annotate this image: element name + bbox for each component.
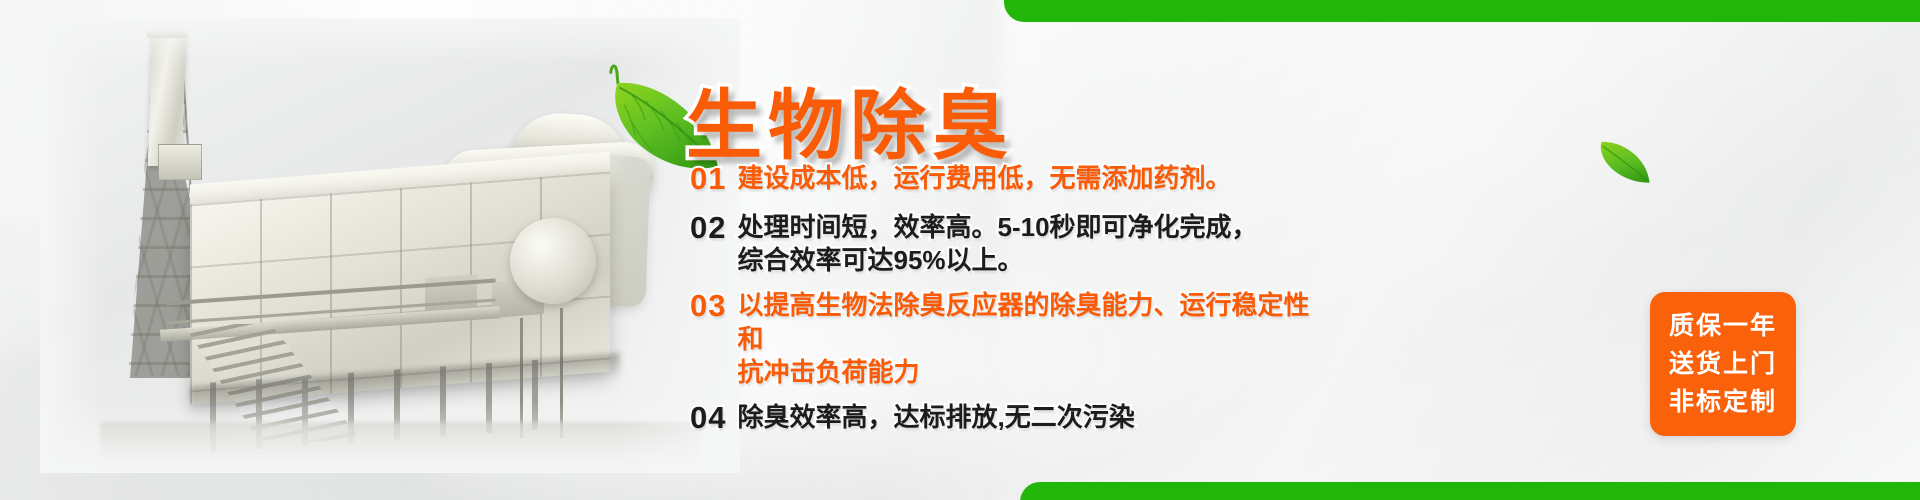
feature-number: 02 — [690, 211, 726, 246]
badge-line-warranty: 质保一年 — [1669, 307, 1777, 345]
green-accent-bar-top — [1004, 0, 1920, 22]
page-title: 生物除臭 — [686, 64, 1014, 174]
promo-banner: 生物除臭 01 建设成本低，运行费用低，无需添加药剂。 02 处理时间短，效率高… — [0, 0, 1920, 500]
feature-number: 03 — [690, 289, 726, 324]
badge-line-delivery: 送货上门 — [1669, 345, 1777, 383]
feature-list: 01 建设成本低，运行费用低，无需添加药剂。 02 处理时间短，效率高。5-10… — [690, 162, 1310, 442]
feature-number: 01 — [690, 162, 726, 197]
green-accent-bar-bottom — [1020, 482, 1920, 500]
list-item: 02 处理时间短，效率高。5-10秒即可净化完成， 综合效率可达95%以上。 — [690, 211, 1310, 278]
feature-text: 除臭效率高，达标排放,无二次污染 — [737, 401, 1134, 434]
feature-text: 以提高生物法除臭反应器的除臭能力、运行稳定性和 抗冲击负荷能力 — [737, 289, 1310, 389]
feature-text: 处理时间短，效率高。5-10秒即可净化完成， 综合效率可达95%以上。 — [737, 211, 1257, 278]
guarantee-badge: 质保一年 送货上门 非标定制 — [1650, 292, 1796, 436]
feature-number: 04 — [690, 401, 726, 436]
list-item: 01 建设成本低，运行费用低，无需添加药剂。 — [690, 162, 1310, 197]
leaf-icon — [1590, 133, 1660, 189]
list-item: 04 除臭效率高，达标排放,无二次污染 — [690, 401, 1310, 436]
list-item: 03 以提高生物法除臭反应器的除臭能力、运行稳定性和 抗冲击负荷能力 — [690, 289, 1310, 389]
badge-line-custom: 非标定制 — [1669, 383, 1777, 421]
feature-text: 建设成本低，运行费用低，无需添加药剂。 — [737, 162, 1231, 195]
